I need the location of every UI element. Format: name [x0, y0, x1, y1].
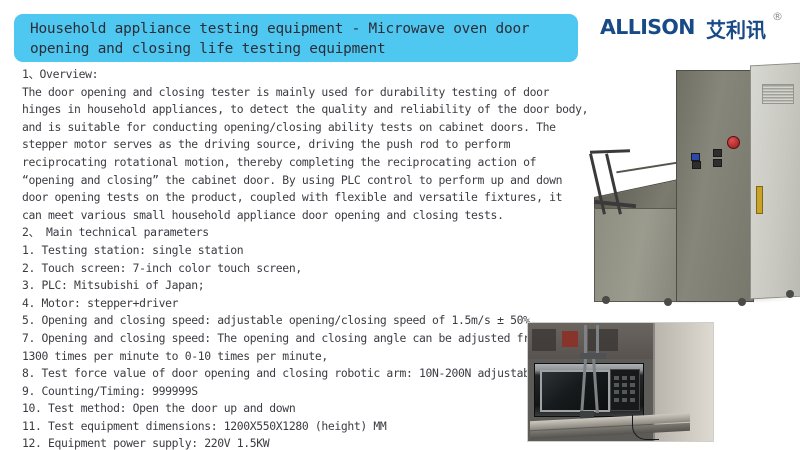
background-clutter	[588, 329, 618, 351]
spec-line: reciprocating rotational motion, thereby…	[22, 154, 530, 172]
spec-line: 7. Opening and closing speed: The openin…	[22, 330, 530, 348]
spec-line: 4. Motor: stepper+driver	[22, 295, 530, 313]
spec-line: 5. Opening and closing speed: adjustable…	[22, 312, 530, 330]
spec-line: 12. Equipment power supply: 220V 1.5KW	[22, 435, 530, 450]
arm-crossbar-upper	[590, 149, 630, 153]
logo-chinese-name: 艾利讯	[706, 14, 766, 43]
spec-line: hinges in household appliances, to detec…	[22, 101, 530, 119]
spec-line: “opening and closing” the cabinet door. …	[22, 172, 530, 190]
keypad-key	[614, 376, 619, 380]
keypad-key	[614, 398, 619, 402]
spec-line: door opening tests on the product, coupl…	[22, 189, 530, 207]
keypad-key	[630, 390, 635, 394]
spec-line: 11. Test equipment dimensions: 1200X550X…	[22, 418, 530, 436]
spec-line: The door opening and closing tester is m…	[22, 84, 530, 102]
keypad-key	[614, 383, 619, 387]
microwave-oven-door	[540, 370, 610, 412]
logo-wordmark: ALLISON	[600, 15, 695, 39]
caster-wheel	[602, 296, 610, 304]
page-title-line-1: Household appliance testing equipment - …	[30, 19, 564, 39]
keypad-key	[622, 383, 627, 387]
power-cable	[632, 415, 659, 440]
title-banner: Household appliance testing equipment - …	[14, 14, 578, 62]
spec-line: and is suitable for conducting opening/c…	[22, 119, 530, 137]
background-clutter	[532, 329, 556, 351]
company-logo: ALLISON 艾利讯 ®	[600, 12, 790, 46]
test-bed-front-panel	[594, 208, 684, 302]
spec-line: 1300 times per minute to 0-10 times per …	[22, 348, 530, 366]
spec-line: stepper motor serves as the driving sour…	[22, 136, 530, 154]
indicator-lamp	[692, 161, 701, 169]
spec-line: 8. Test force value of door opening and …	[22, 365, 530, 383]
control-cabinet-front	[676, 70, 754, 302]
keypad-key	[622, 376, 627, 380]
caster-wheel	[786, 290, 794, 298]
page-title-line-2: opening and closing life testing equipme…	[30, 39, 564, 59]
spec-line: 9. Counting/Timing: 999999S	[22, 383, 530, 401]
keypad-key	[630, 376, 635, 380]
machine-photo	[560, 58, 800, 343]
closeup-photo	[527, 322, 714, 442]
spec-line: 10. Test method: Open the door up and do…	[22, 400, 530, 418]
ventilation-grille	[762, 84, 794, 104]
spec-line: 2. Touch screen: 7-inch color touch scre…	[22, 260, 530, 278]
registered-trademark-icon: ®	[772, 10, 783, 23]
keypad-key	[622, 390, 627, 394]
spec-line: can meet various small household applian…	[22, 207, 530, 225]
spec-line: 2、 Main technical parameters	[22, 224, 530, 242]
spec-line: 3. PLC: Mitsubishi of Japan;	[22, 277, 530, 295]
keypad-key	[630, 383, 635, 387]
spec-line: 1、Overview:	[22, 66, 530, 84]
start-button[interactable]	[691, 153, 700, 161]
caster-wheel	[738, 298, 746, 306]
mode-button-upper[interactable]	[713, 149, 722, 157]
emergency-stop-button[interactable]	[727, 136, 740, 149]
cabinet-door-handle[interactable]	[756, 186, 763, 214]
keypad-key	[630, 398, 635, 402]
mode-button-lower[interactable]	[713, 159, 722, 167]
keypad-key	[622, 398, 627, 402]
keypad-key	[614, 390, 619, 394]
microwave-control-keypad	[610, 369, 640, 411]
arm-support-rail	[616, 161, 683, 174]
specification-text: 1、Overview:The door opening and closing …	[22, 66, 530, 450]
spec-line: 1. Testing station: single station	[22, 242, 530, 260]
caster-wheel	[664, 298, 672, 306]
product-spec-page: Household appliance testing equipment - …	[0, 0, 800, 450]
background-red-object	[562, 331, 578, 347]
